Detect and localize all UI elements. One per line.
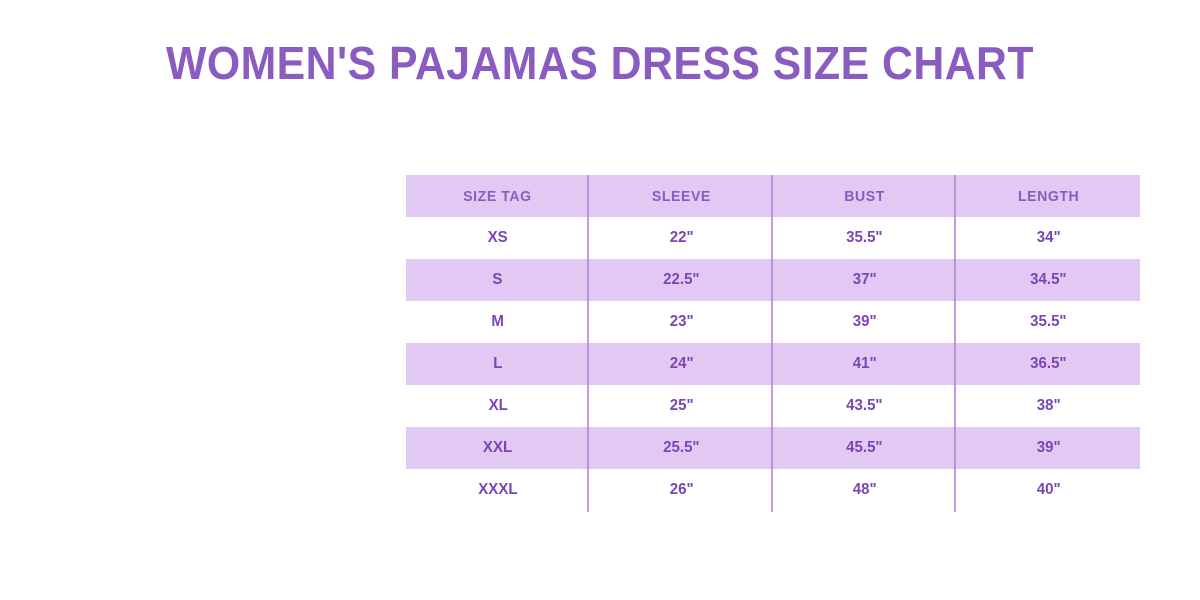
table-row: L 24" 41" 36.5" [406,343,1140,385]
cell-size-tag: S [406,259,590,301]
cell-sleeve-value: 23" [669,313,693,331]
table-row: XL 25" 43.5" 38" [406,385,1140,427]
cell-length-value: 40" [1036,481,1060,499]
column-header-length: LENGTH [957,175,1141,217]
cell-bust: 45.5" [773,427,957,469]
cell-size-tag-value: XXL [483,439,512,457]
cell-size-tag-value: XL [488,397,507,415]
cell-length-value: 38" [1036,397,1060,415]
column-header-length-label: LENGTH [1018,188,1079,205]
cell-sleeve: 26" [590,469,774,511]
cell-bust-value: 48" [853,481,877,499]
column-header-sleeve: SLEEVE [590,175,774,217]
cell-bust-value: 39" [853,313,877,331]
cell-sleeve: 25" [590,385,774,427]
cell-bust: 35.5" [773,217,957,259]
cell-length-value: 39" [1036,439,1060,457]
cell-sleeve: 22" [590,217,774,259]
cell-sleeve-value: 22.5" [663,271,699,289]
cell-size-tag-value: M [491,313,504,331]
cell-size-tag-value: L [493,355,502,373]
cell-length: 36.5" [957,343,1141,385]
cell-size-tag: L [406,343,590,385]
size-chart-table-container: SIZE TAG SLEEVE BUST LENGTH XS 22" [406,175,1140,511]
cell-bust: 48" [773,469,957,511]
column-header-bust-label: BUST [844,188,885,205]
column-divider-1 [587,175,589,512]
cell-size-tag-value: XS [488,229,508,247]
cell-sleeve-value: 22" [669,229,693,247]
cell-size-tag: M [406,301,590,343]
column-header-size-tag: SIZE TAG [406,175,590,217]
cell-size-tag: XXXL [406,469,590,511]
cell-sleeve-value: 25" [669,397,693,415]
table-row: XXL 25.5" 45.5" 39" [406,427,1140,469]
cell-length-value: 36.5" [1030,355,1066,373]
table-row: XS 22" 35.5" 34" [406,217,1140,259]
cell-sleeve-value: 26" [669,481,693,499]
table-body: XS 22" 35.5" 34" S 22.5" 37" 34.5" M 23"… [406,217,1140,511]
cell-bust: 43.5" [773,385,957,427]
column-header-sleeve-label: SLEEVE [652,188,711,205]
column-divider-3 [954,175,956,512]
cell-sleeve-value: 25.5" [663,439,699,457]
size-chart-page: WOMEN'S PAJAMAS DRESS SIZE CHART SIZE TA… [0,0,1200,600]
table-header: SIZE TAG SLEEVE BUST LENGTH [406,175,1140,217]
column-divider-2 [771,175,773,512]
cell-length-value: 34" [1036,229,1060,247]
page-title: WOMEN'S PAJAMAS DRESS SIZE CHART [42,38,1158,89]
table-row: XXXL 26" 48" 40" [406,469,1140,511]
cell-sleeve: 25.5" [590,427,774,469]
table-row: M 23" 39" 35.5" [406,301,1140,343]
table-header-row: SIZE TAG SLEEVE BUST LENGTH [406,175,1140,217]
cell-sleeve: 24" [590,343,774,385]
cell-length: 35.5" [957,301,1141,343]
cell-size-tag: XL [406,385,590,427]
cell-bust-value: 35.5" [847,229,883,247]
cell-sleeve: 22.5" [590,259,774,301]
cell-size-tag-value: S [493,271,503,289]
cell-length: 40" [957,469,1141,511]
size-chart-table: SIZE TAG SLEEVE BUST LENGTH XS 22" [406,175,1140,511]
cell-size-tag: XXL [406,427,590,469]
cell-bust-value: 43.5" [847,397,883,415]
column-header-size-tag-label: SIZE TAG [463,188,531,205]
cell-size-tag: XS [406,217,590,259]
cell-length: 34.5" [957,259,1141,301]
cell-sleeve: 23" [590,301,774,343]
cell-length-value: 34.5" [1030,271,1066,289]
table-row: S 22.5" 37" 34.5" [406,259,1140,301]
cell-bust: 37" [773,259,957,301]
cell-bust-value: 41" [853,355,877,373]
cell-sleeve-value: 24" [669,355,693,373]
cell-length-value: 35.5" [1030,313,1066,331]
cell-size-tag-value: XXXL [478,481,517,499]
cell-bust: 41" [773,343,957,385]
cell-length: 34" [957,217,1141,259]
cell-bust-value: 45.5" [847,439,883,457]
cell-length: 38" [957,385,1141,427]
cell-length: 39" [957,427,1141,469]
cell-bust: 39" [773,301,957,343]
column-header-bust: BUST [773,175,957,217]
cell-bust-value: 37" [853,271,877,289]
